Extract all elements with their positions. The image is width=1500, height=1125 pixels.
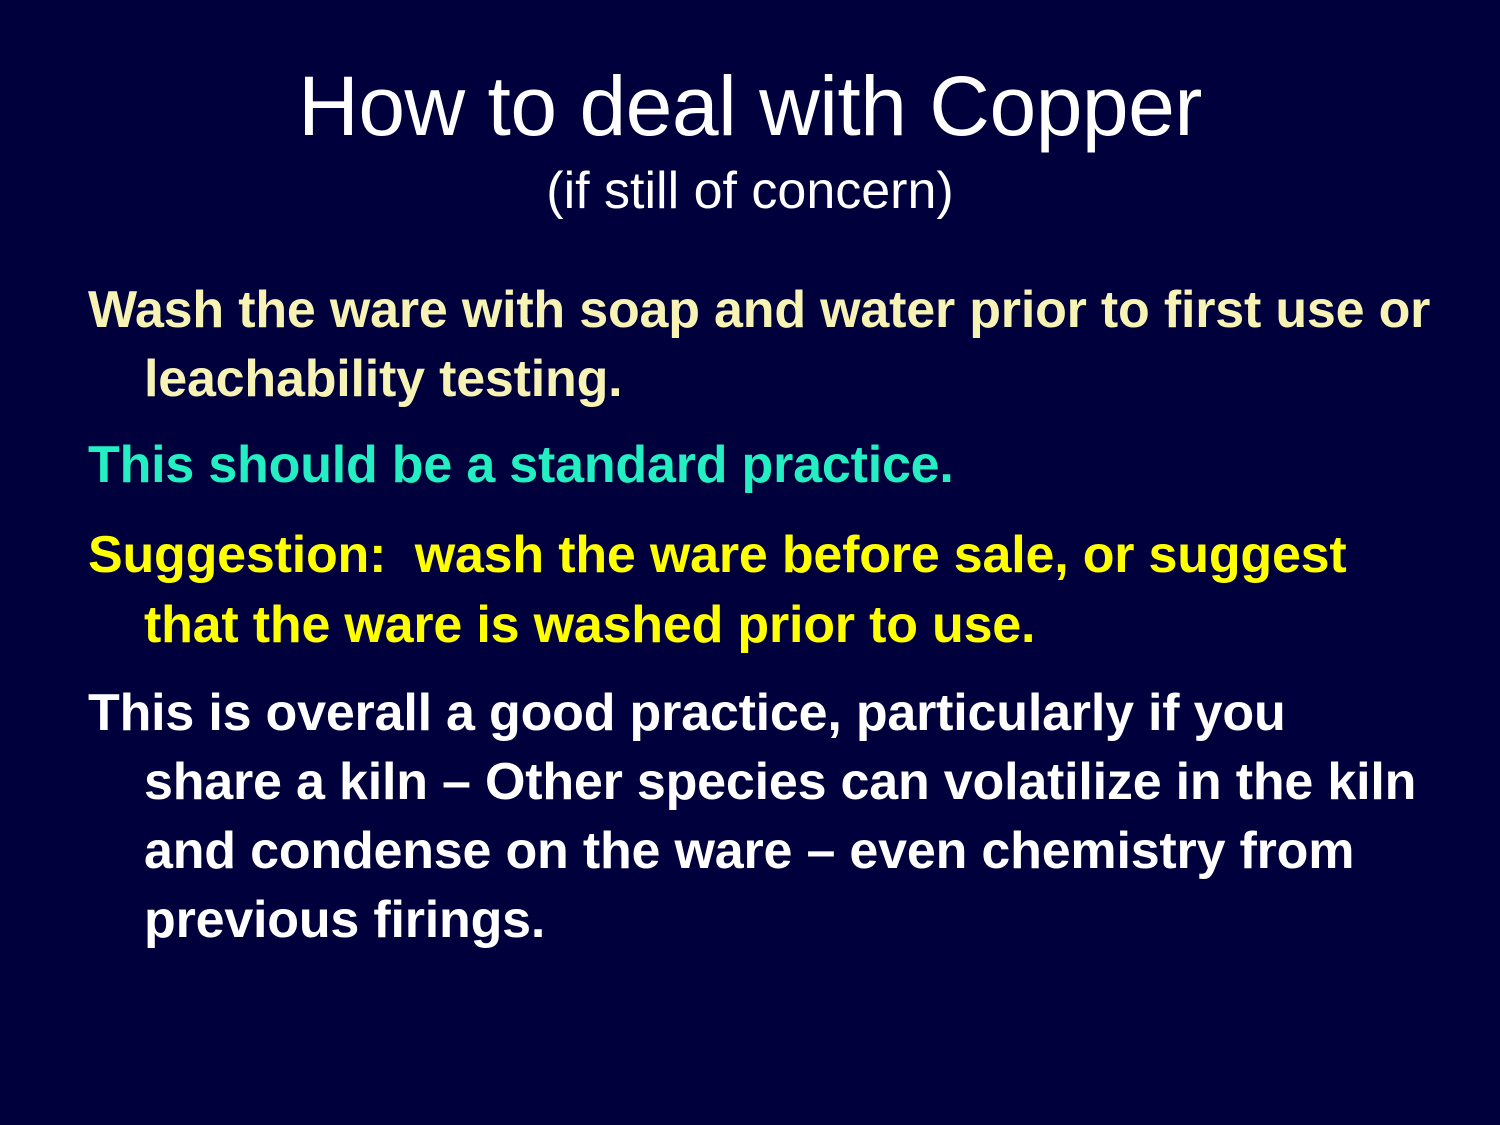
slide-body: Wash the ware with soap and water prior …: [88, 276, 1436, 955]
page-title: How to deal with Copper: [0, 62, 1500, 151]
body-paragraph-suggestion: Suggestion: wash the ware before sale, o…: [88, 521, 1436, 659]
body-paragraph-good-practice: This is overall a good practice, particu…: [88, 679, 1436, 956]
slide-title-block: How to deal with Copper (if still of con…: [0, 62, 1500, 220]
body-paragraph-wash-the-ware: Wash the ware with soap and water prior …: [88, 276, 1436, 414]
slide: How to deal with Copper (if still of con…: [0, 0, 1500, 1125]
body-paragraph-standard-practice: This should be a standard practice.: [88, 431, 1436, 500]
slide-subtitle: (if still of concern): [0, 163, 1500, 220]
